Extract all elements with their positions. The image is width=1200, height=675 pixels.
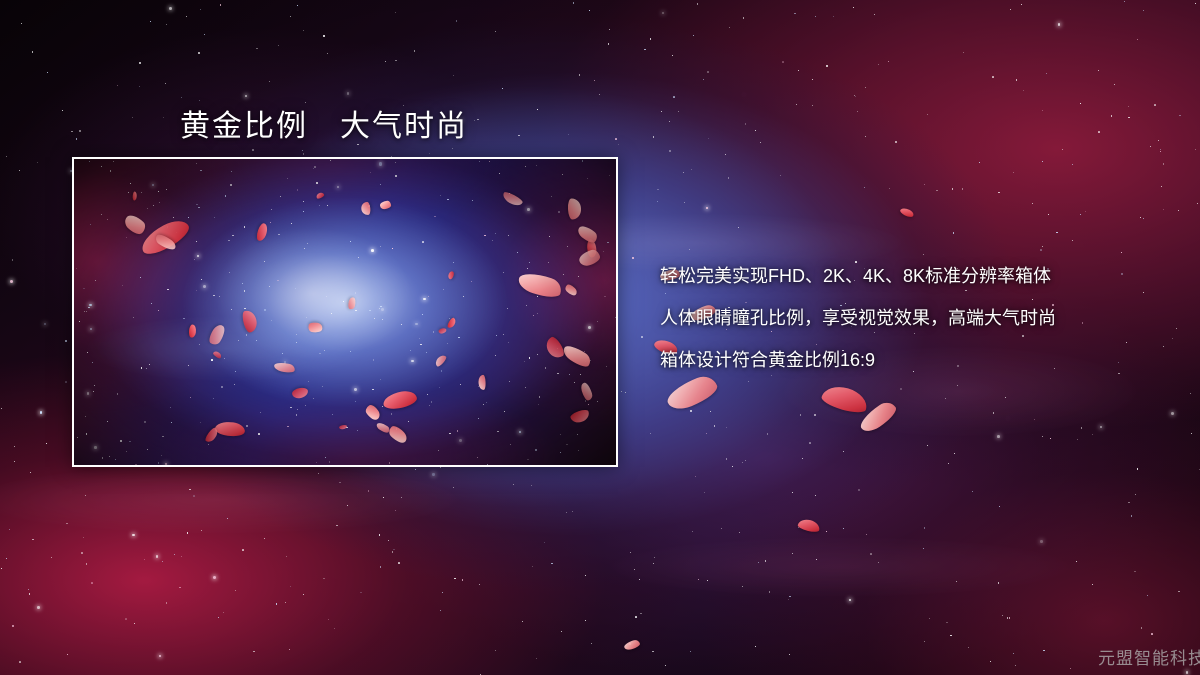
image-frame <box>72 157 618 467</box>
presentation-slide: 黄金比例 大气时尚 轻松完美实现FHD、2K、4K、8K标准分辨率箱体 人体眼睛… <box>0 0 1200 675</box>
page-title: 黄金比例 大气时尚 <box>180 101 468 145</box>
body-line-3: 箱体设计符合黄金比例16:9 <box>660 339 1190 381</box>
body-line-2: 人体眼睛瞳孔比例，享受视觉效果，高端大气时尚 <box>660 297 1190 339</box>
watermark: 元盟智能科技 <box>1098 644 1200 669</box>
framed-photo <box>74 159 616 465</box>
photo-vignette <box>74 159 616 465</box>
body-text-block: 轻松完美实现FHD、2K、4K、8K标准分辨率箱体 人体眼睛瞳孔比例，享受视觉效… <box>660 255 1190 381</box>
body-line-1: 轻松完美实现FHD、2K、4K、8K标准分辨率箱体 <box>660 255 1190 297</box>
